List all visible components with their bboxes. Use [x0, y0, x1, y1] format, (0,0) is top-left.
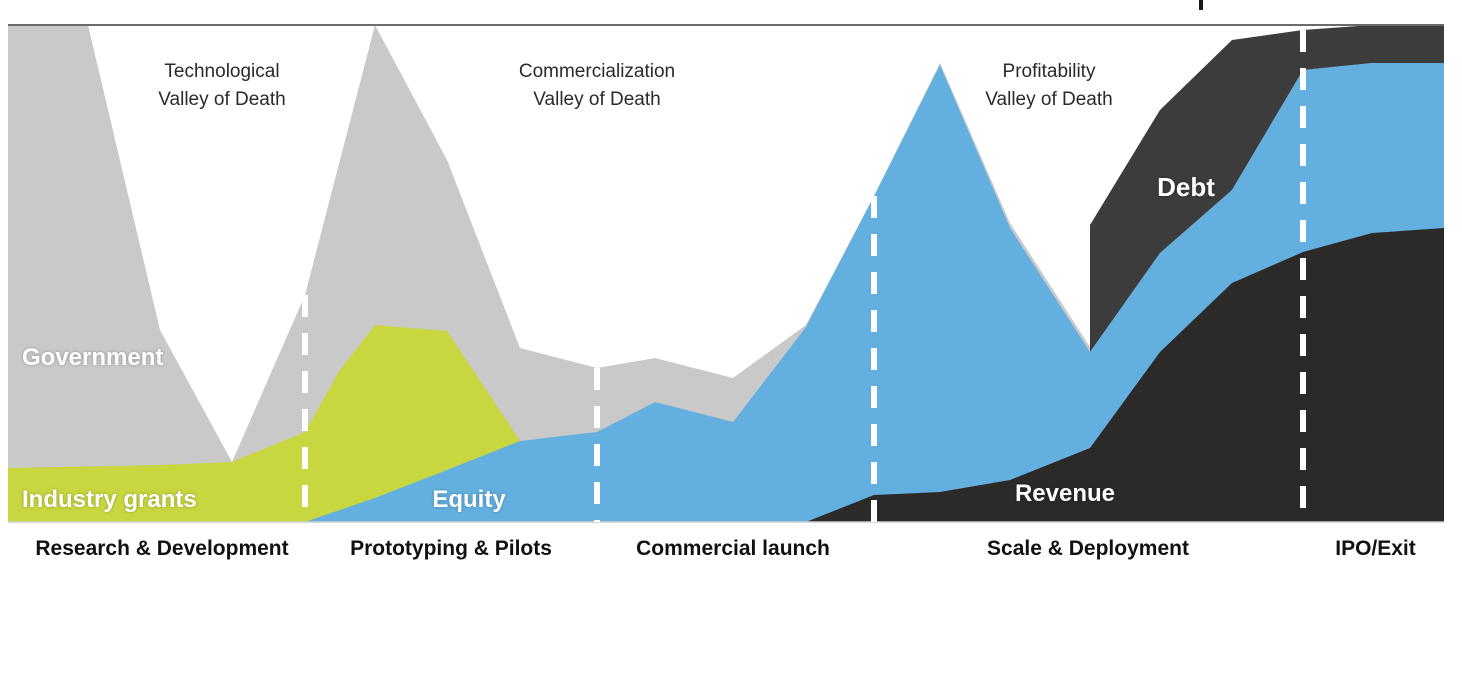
series-label-debt: Debt	[1106, 172, 1266, 203]
annotation-line-1: Commercialization	[477, 58, 717, 86]
annotation-commercialization-valley: Commercialization Valley of Death	[477, 58, 717, 113]
stage-label-scale-deployment: Scale & Deployment	[878, 537, 1298, 561]
annotation-line-2: Valley of Death	[949, 86, 1149, 114]
stage-label-commercial-launch: Commercial launch	[603, 537, 863, 561]
series-label-equity: Equity	[369, 486, 569, 514]
series-label-government: Government	[22, 344, 163, 372]
crop-artifact-mark	[1199, 0, 1203, 10]
annotation-line-2: Valley of Death	[122, 86, 322, 114]
funding-continuum-figure: Technological Valley of Death Commercial…	[0, 0, 1462, 674]
annotation-line-1: Profitability	[949, 58, 1149, 86]
annotation-technological-valley: Technological Valley of Death	[122, 58, 322, 113]
stage-label-ipo-exit: IPO/Exit	[1308, 537, 1443, 561]
stage-label-prototyping-pilots: Prototyping & Pilots	[311, 537, 591, 561]
annotation-line-1: Technological	[122, 58, 322, 86]
series-label-revenue: Revenue	[965, 480, 1165, 508]
series-label-industry-grants: Industry grants	[22, 486, 197, 514]
annotation-profitability-valley: Profitability Valley of Death	[949, 58, 1149, 113]
stage-label-research-development: Research & Development	[12, 537, 312, 561]
annotation-line-2: Valley of Death	[477, 86, 717, 114]
